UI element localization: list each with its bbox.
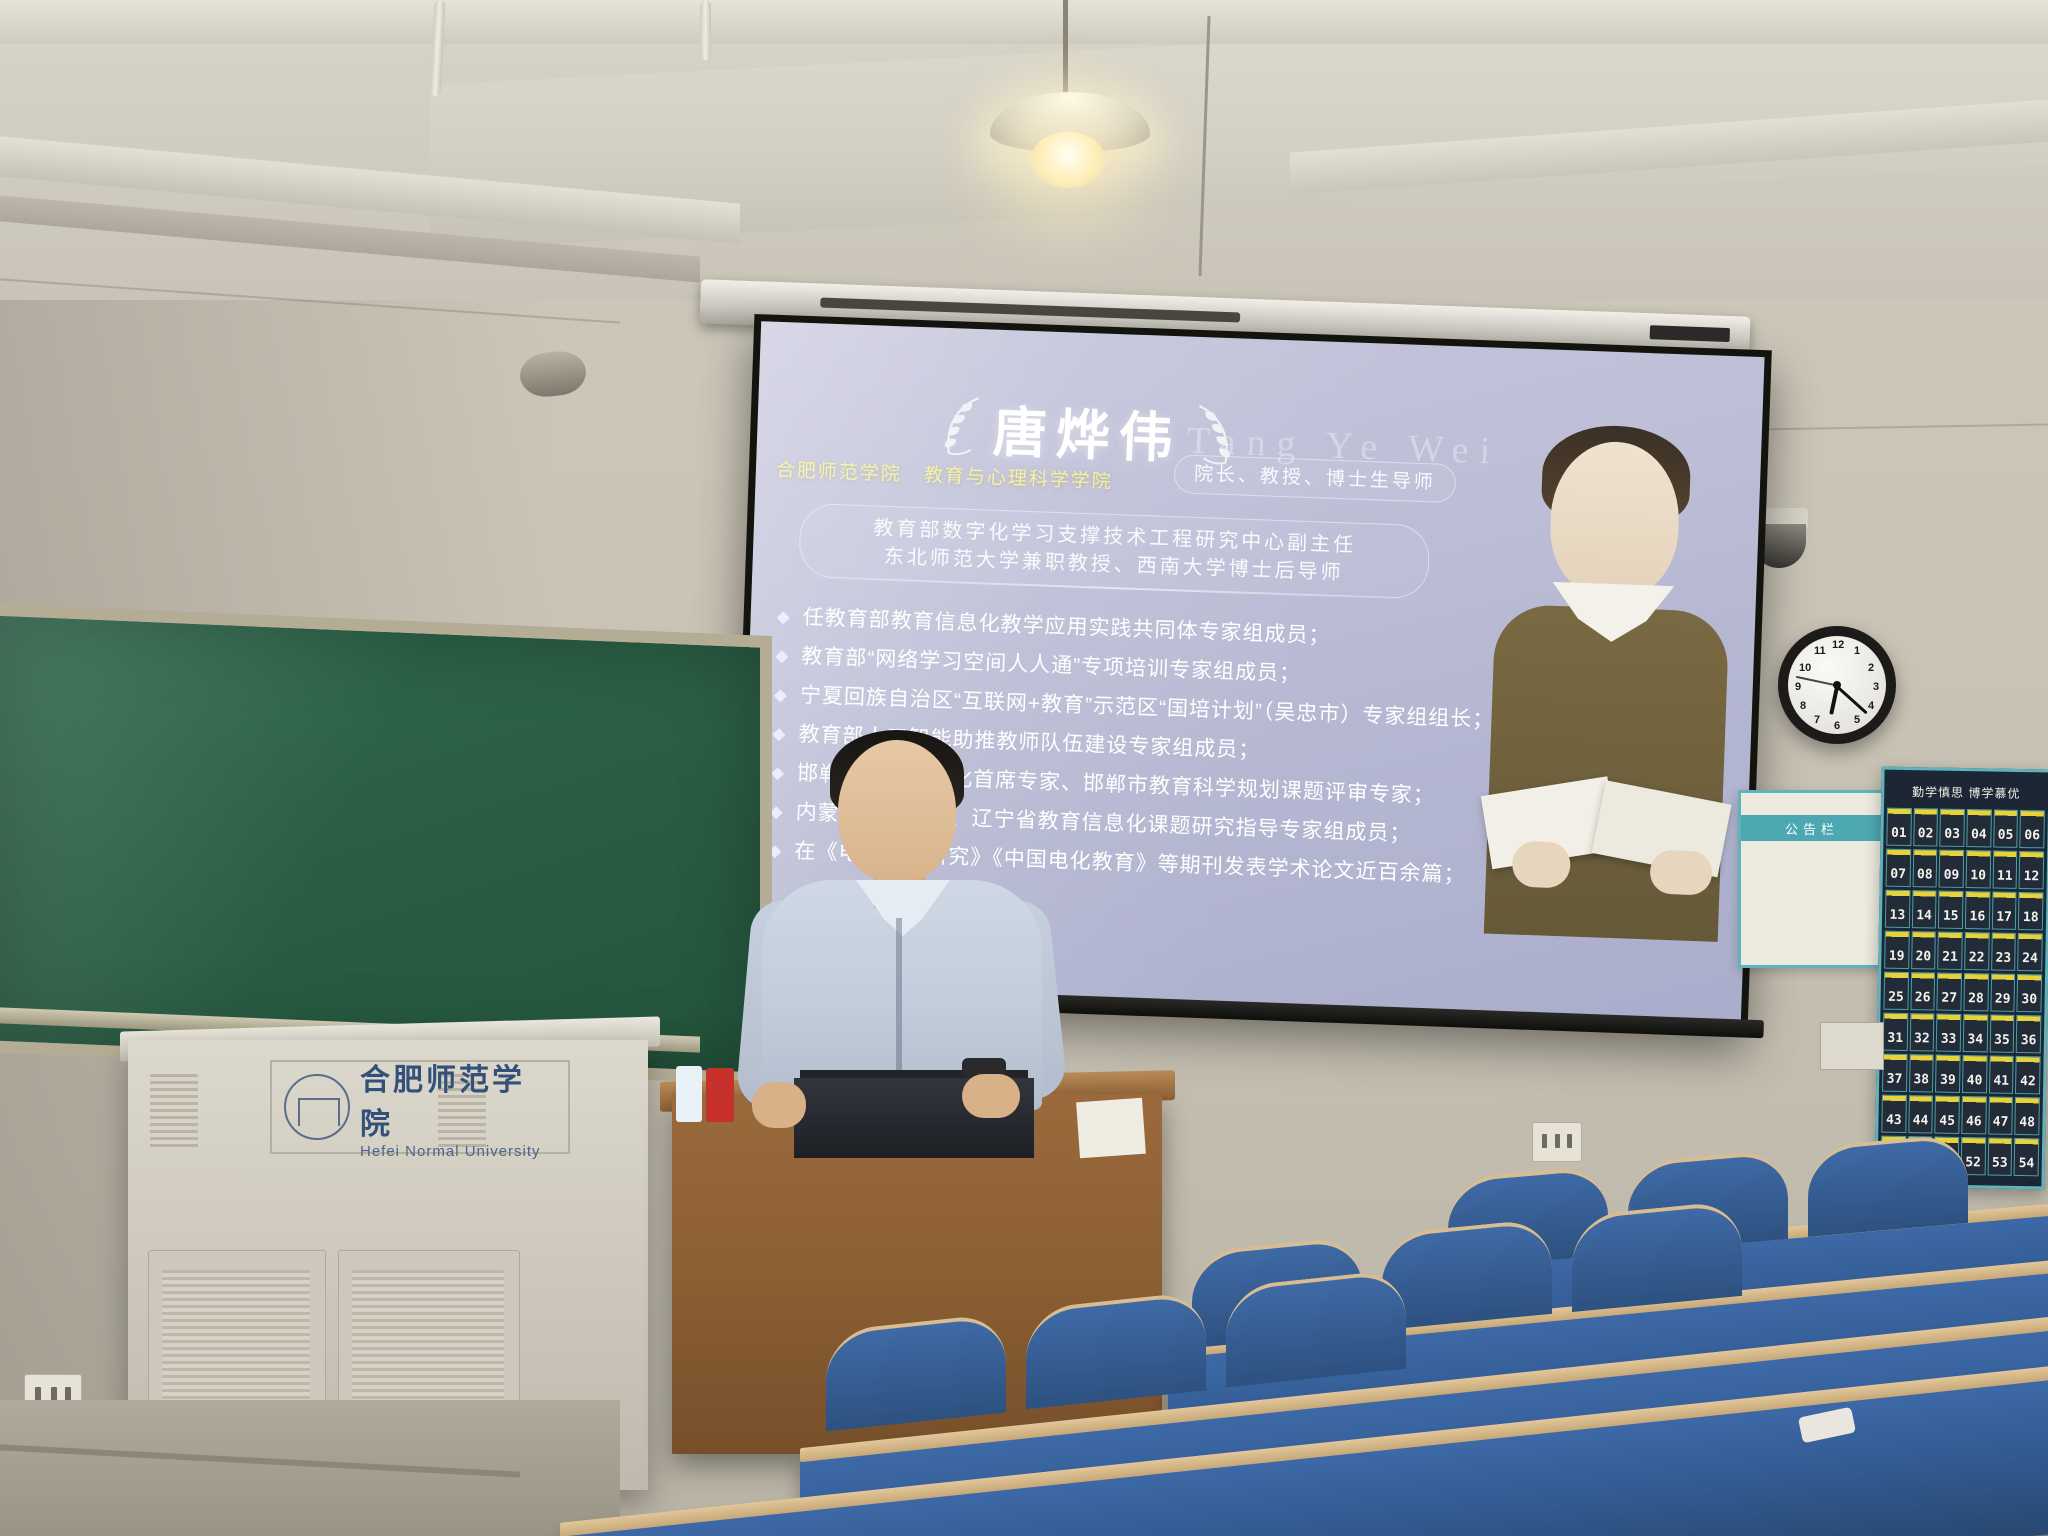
pocket-slot[interactable]: 53 [1987,1137,2012,1175]
clock-numeral-7: 7 [1814,714,1820,726]
pocket-slot[interactable]: 03 [1940,809,1965,847]
clock-hour-hand [1829,687,1839,715]
podium-branding-plate: 合肥师范学院 Hefei Normal University [270,1060,570,1154]
clock-numeral-9: 9 [1795,681,1801,693]
pocket-slot[interactable]: 31 [1883,1013,1908,1051]
pocket-slot[interactable]: 14 [1912,890,1937,928]
pocket-slot[interactable]: 08 [1912,849,1937,887]
pocket-slot[interactable]: 39 [1935,1055,1960,1093]
pocket-slot[interactable]: 27 [1937,973,1962,1011]
pocket-slot[interactable]: 54 [2014,1138,2039,1176]
clock-numeral-12: 12 [1832,639,1844,651]
clock-center-pin [1833,681,1841,689]
ceiling-beam-top [0,0,2048,44]
pocket-slot[interactable]: 26 [1910,972,1935,1010]
pocket-slot[interactable]: 02 [1913,808,1938,846]
pocket-slot[interactable]: 17 [1992,891,2017,929]
podium-vent-left [150,1074,198,1148]
pocket-slot[interactable]: 23 [1991,932,2016,970]
red-box-item[interactable] [706,1068,734,1122]
water-bottle[interactable] [676,1066,702,1122]
pocket-slot[interactable]: 20 [1911,931,1936,969]
clock-numeral-3: 3 [1873,681,1879,693]
podium-grille-left [162,1270,310,1420]
clock-second-hand [1796,676,1837,686]
pocket-slot[interactable]: 22 [1964,932,1989,970]
pocket-row: 43 44 45 46 47 48 [1881,1095,2040,1136]
notice-board-title: 公告栏 [1741,815,1883,841]
notice-board: 公告栏 [1738,790,1886,968]
pocket-slot[interactable]: 25 [1883,972,1908,1010]
pocket-row: 13 14 15 16 17 18 [1885,890,2044,931]
pocket-row: 19 20 21 22 23 24 [1884,931,2043,972]
pocket-slot[interactable]: 35 [1989,1014,2014,1052]
university-seal-icon [284,1074,350,1140]
pocket-slot[interactable]: 15 [1938,891,1963,929]
pocket-slot[interactable]: 01 [1886,808,1911,846]
pocket-row: 25 26 27 28 29 30 [1883,972,2042,1013]
pocket-slot[interactable]: 38 [1909,1054,1934,1092]
pocket-slot[interactable]: 47 [1988,1096,2013,1134]
pocket-slot[interactable]: 07 [1886,849,1911,887]
power-outlet-right[interactable] [1532,1122,1582,1162]
pocket-slot[interactable]: 42 [2015,1056,2040,1094]
pocket-board-title: 勤学慎思 博学慕优 [1887,774,2046,811]
pocket-row: 31 32 33 34 35 36 [1883,1013,2042,1054]
phone-pocket-board[interactable]: 勤学慎思 博学慕优 01 02 03 04 05 06 07 08 09 10 … [1874,767,2048,1190]
floor [0,1400,620,1536]
wall-service-box[interactable] [1820,1022,1884,1070]
pocket-slot[interactable]: 32 [1909,1013,1934,1051]
speaker-hand-left [752,1082,806,1128]
blackboard-glare [0,616,760,1073]
pocket-slot[interactable]: 41 [1989,1055,2014,1093]
pocket-slot[interactable]: 10 [1966,850,1991,888]
pocket-slot[interactable]: 24 [2017,933,2042,971]
wall-pipe-short [700,0,711,60]
pocket-slot[interactable]: 43 [1881,1095,1906,1133]
lamp-rod [1063,0,1068,100]
pocket-slot[interactable]: 18 [2018,892,2043,930]
pocket-slot[interactable]: 28 [1963,973,1988,1011]
speaker-hand-right [962,1074,1020,1118]
clock-numeral-6: 6 [1834,720,1840,732]
clock-numeral-2: 2 [1868,662,1874,674]
pocket-slot[interactable]: 09 [1939,850,1964,888]
clock-numeral-1: 1 [1854,645,1860,657]
pocket-slot[interactable]: 33 [1936,1014,1961,1052]
clock-face: 12 1 2 3 4 5 6 7 8 9 10 11 [1788,636,1886,734]
ceiling-lamp-bulb [1030,132,1106,188]
podium-logo-cn: 合肥师范学院 [360,1055,556,1143]
clock-numeral-10: 10 [1799,662,1811,674]
pocket-slot[interactable]: 44 [1908,1095,1933,1133]
pocket-slot[interactable]: 30 [2017,974,2042,1012]
podium-grille-right [352,1270,504,1420]
clock-numeral-11: 11 [1814,645,1826,657]
pocket-row: 07 08 09 10 11 12 [1886,849,2045,890]
pocket-slot[interactable]: 16 [1965,891,1990,929]
pocket-slot[interactable]: 11 [1992,851,2017,889]
classroom-photo: 唐烨伟 Tang Ye Wei 合肥师范学院教育 [0,0,2048,1536]
pocket-slot[interactable]: 05 [1993,810,2018,848]
pocket-slot[interactable]: 04 [1966,809,1991,847]
pocket-slot[interactable]: 40 [1962,1055,1987,1093]
pocket-slot[interactable]: 13 [1885,890,1910,928]
clock-numeral-5: 5 [1854,714,1860,726]
pocket-slot[interactable]: 46 [1961,1096,1986,1134]
pocket-slot[interactable]: 36 [2016,1015,2041,1053]
pocket-slot[interactable]: 34 [1963,1014,1988,1052]
podium-logo-en: Hefei Normal University [360,1143,556,1160]
wall-clock: 12 1 2 3 4 5 6 7 8 9 10 11 [1778,626,1896,744]
pocket-slot[interactable]: 48 [2015,1097,2040,1135]
pocket-slot[interactable]: 06 [2020,810,2045,848]
pocket-slot[interactable]: 19 [1884,931,1909,969]
pocket-slot[interactable]: 45 [1935,1096,1960,1134]
lectern-paper-note[interactable] [1076,1098,1146,1158]
pocket-row: 37 38 39 40 41 42 [1882,1054,2041,1095]
pocket-slot[interactable]: 29 [1990,973,2015,1011]
clock-minute-hand [1836,685,1868,714]
pocket-slot[interactable]: 12 [2019,851,2044,889]
clock-numeral-4: 4 [1868,700,1874,712]
pocket-slot[interactable]: 21 [1937,932,1962,970]
clock-numeral-8: 8 [1800,700,1806,712]
pocket-row: 01 02 03 04 05 06 [1886,808,2045,849]
screen-housing-badge [1650,325,1730,342]
pocket-slot[interactable]: 37 [1882,1054,1907,1092]
speaker-head [838,740,956,882]
